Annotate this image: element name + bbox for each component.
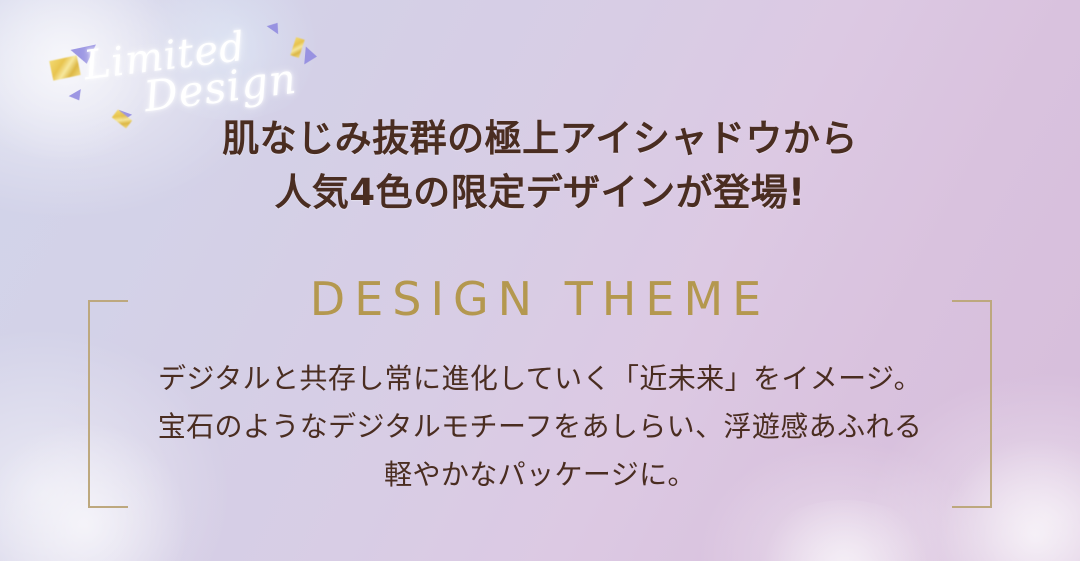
- body-copy: デジタルと共存し常に進化していく「近未来」をイメージ。 宝石のようなデジタルモチ…: [0, 355, 1080, 499]
- headline: 肌なじみ抜群の極上アイシャドウから 人気4色の限定デザインが登場!: [0, 112, 1080, 219]
- body-copy-line-3: 軽やかなパッケージに。: [0, 451, 1080, 499]
- headline-line-2: 人気4色の限定デザインが登場!: [0, 166, 1080, 220]
- body-copy-line-2: 宝石のようなデジタルモチーフをあしらい、浮遊感あふれる: [0, 403, 1080, 451]
- bracket-right-top-arm: [952, 300, 990, 302]
- promo-banner: Limited Design 肌なじみ抜群の極上アイシャドウから 人気4色の限定…: [0, 0, 1080, 561]
- bokeh-glow: [745, 500, 945, 561]
- bracket-left-top-arm: [90, 300, 128, 302]
- bracket-right-bottom-arm: [952, 506, 990, 508]
- confetti-triangle-icon: [69, 89, 86, 104]
- confetti-gold-chip-icon: [49, 55, 81, 80]
- body-copy-line-1: デジタルと共存し常に進化していく「近未来」をイメージ。: [0, 355, 1080, 403]
- design-theme-title: DESIGN THEME: [0, 272, 1080, 326]
- bracket-left-bottom-arm: [90, 506, 128, 508]
- headline-line-1: 肌なじみ抜群の極上アイシャドウから: [0, 112, 1080, 166]
